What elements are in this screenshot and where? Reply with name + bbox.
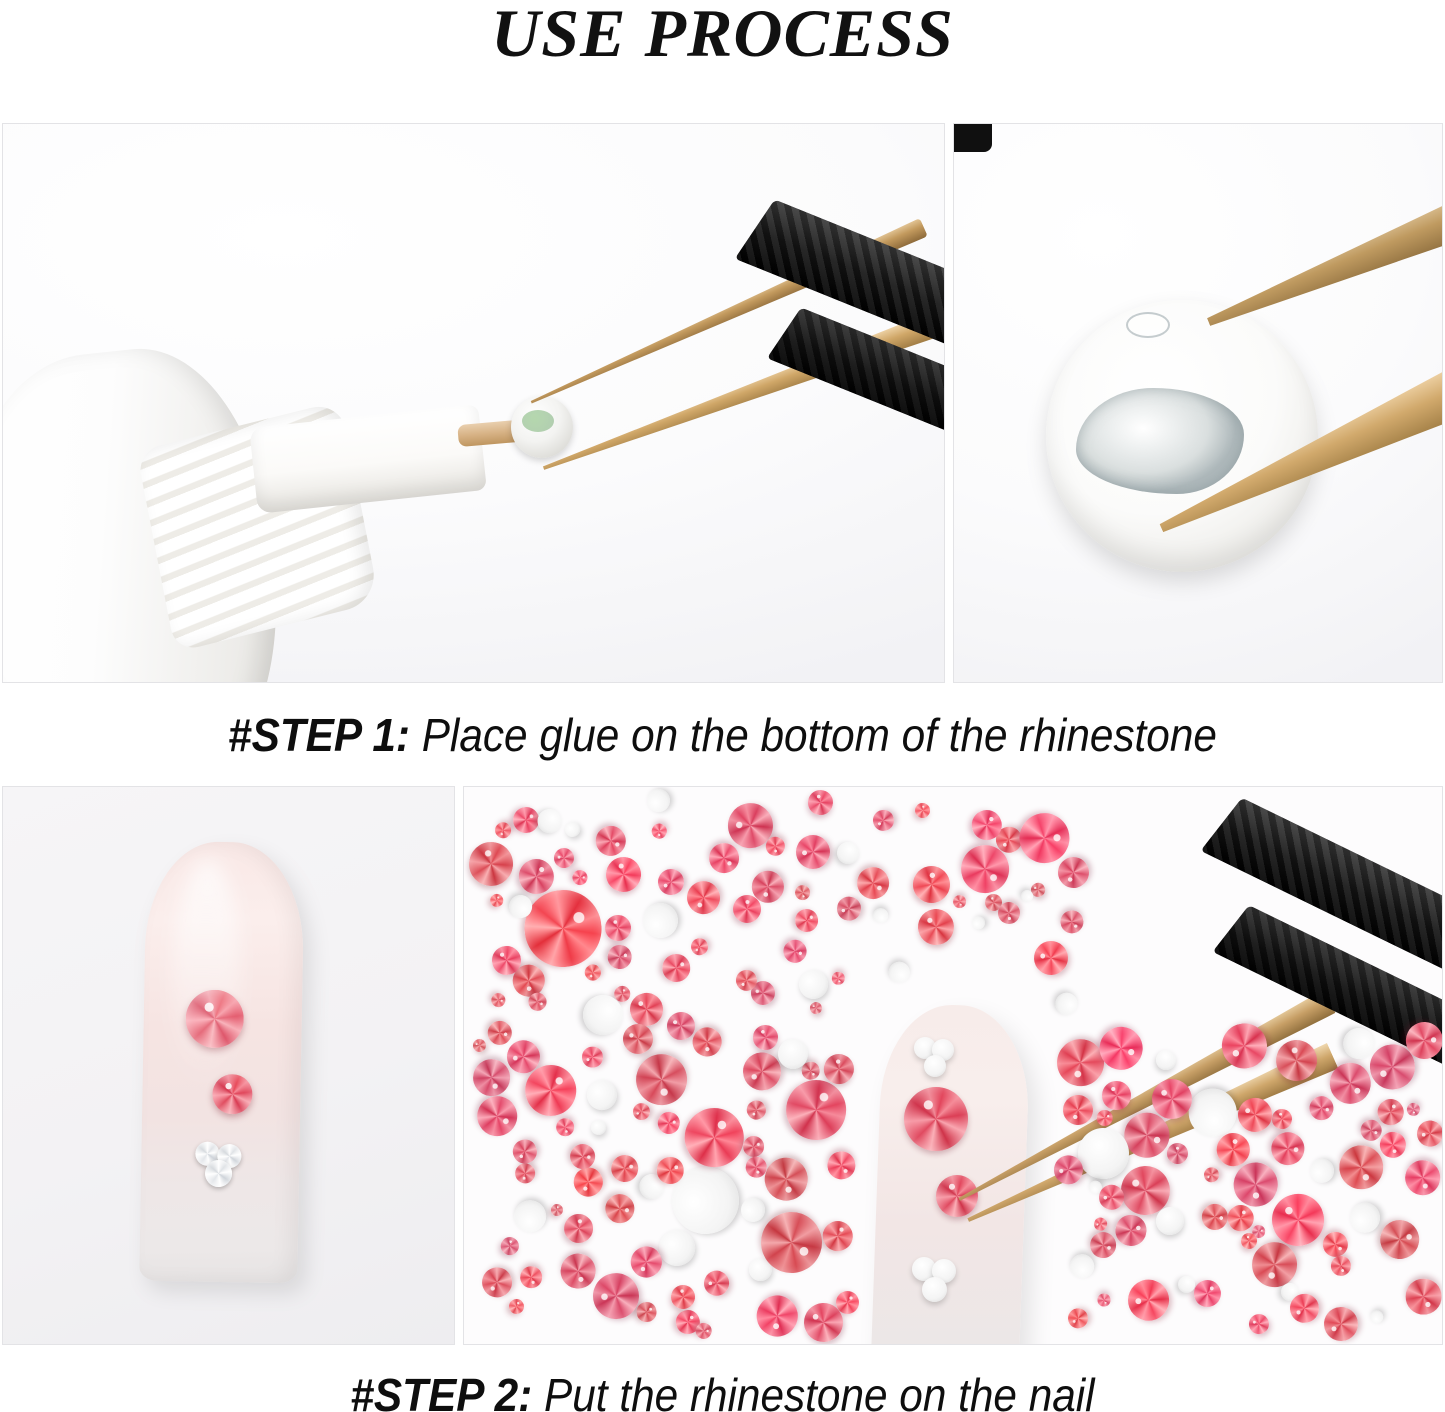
step-2-label: #STEP 2: — [350, 1369, 532, 1412]
step-2-block: #STEP 2: Put the rhinestone on the nail — [0, 786, 1445, 1412]
step-1-photo-row — [0, 123, 1445, 683]
step-1-label: #STEP 1: — [228, 709, 410, 761]
rhinestone-face-up — [657, 1157, 684, 1184]
press-on-nail — [139, 841, 305, 1284]
rhinestone-flat-back — [1046, 300, 1318, 572]
decorated-nail-photo — [2, 786, 455, 1345]
glue-bottle-photo — [2, 123, 945, 683]
glue-bubble — [1126, 312, 1170, 338]
rhinestone-face-up — [1406, 1279, 1442, 1315]
step-2-photo-row — [0, 786, 1445, 1345]
rhinestone-scatter-photo — [463, 786, 1443, 1345]
rhinestone-face-up — [632, 1103, 650, 1121]
step-1-block: #STEP 1: Place glue on the bottom of the… — [0, 123, 1445, 758]
rhinestone-face-down — [873, 908, 888, 923]
step-2-caption: #STEP 2: Put the rhinestone on the nail — [58, 1372, 1387, 1412]
glue-blob — [1076, 388, 1244, 494]
step-1-caption: #STEP 1: Place glue on the bottom of the… — [58, 712, 1387, 758]
rhinestone-face-down — [1309, 1158, 1333, 1182]
rhinestone-with-glue — [511, 396, 573, 458]
gem-on-nail-clear-f — [922, 1277, 947, 1302]
gem-on-nail-clear-c — [924, 1055, 946, 1077]
tweezer-grip-corner — [953, 123, 992, 152]
rhinestone-face-up — [1097, 1294, 1110, 1307]
step-1-text: Place glue on the bottom of the rhinesto… — [410, 709, 1217, 761]
gem-clear-c — [205, 1160, 232, 1187]
glued-rhinestone-photo — [953, 123, 1443, 683]
use-process-infographic: USE PROCESS — [0, 0, 1445, 1412]
gem-small-pink — [212, 1074, 253, 1115]
page-title: USE PROCESS — [0, 0, 1445, 71]
rhinestone-face-up — [582, 1047, 603, 1068]
gem-on-nail-pink-small — [936, 1175, 978, 1217]
step-2-text: Put the rhinestone on the nail — [532, 1369, 1094, 1412]
gem-large-pink — [185, 989, 244, 1048]
gem-on-nail-pink — [904, 1087, 968, 1151]
